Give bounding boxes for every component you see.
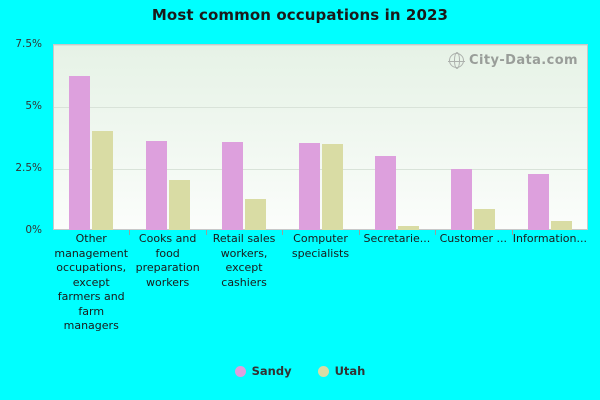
legend-swatch-sandy xyxy=(235,366,246,377)
bar-group xyxy=(451,44,495,230)
bar-group xyxy=(69,44,113,230)
bar-sandy[interactable] xyxy=(375,156,396,230)
x-axis-tick xyxy=(512,230,513,235)
y-axis-tick-label: 2.5% xyxy=(15,162,42,174)
bar-sandy[interactable] xyxy=(528,174,549,230)
bar-utah[interactable] xyxy=(92,131,113,230)
chart-container: Most common occupations in 2023 0%2.5%5%… xyxy=(0,0,600,400)
x-axis-category-label: Retail sales workers, except cashiers xyxy=(208,232,280,290)
x-axis-tick xyxy=(359,230,360,235)
bar-sandy[interactable] xyxy=(299,143,320,230)
x-axis-category-label: Customer ... xyxy=(436,232,510,247)
bar-utah[interactable] xyxy=(398,226,419,230)
bar-group xyxy=(146,44,190,230)
x-axis-tick xyxy=(282,230,283,235)
bar-group xyxy=(299,44,343,230)
legend-label-sandy: Sandy xyxy=(252,364,292,378)
y-axis-tick-label: 5% xyxy=(25,100,42,112)
bar-sandy[interactable] xyxy=(222,142,243,230)
x-axis-category-label: Computer specialists xyxy=(285,232,357,261)
bar-utah[interactable] xyxy=(245,199,266,230)
x-axis-category-label: Secretarie... xyxy=(360,232,434,247)
x-axis-tick xyxy=(435,230,436,235)
x-axis-category-label: Cooks and food preparation workers xyxy=(132,232,204,290)
x-axis-tick xyxy=(206,230,207,235)
legend-item-sandy[interactable]: Sandy xyxy=(235,364,292,378)
bar-sandy[interactable] xyxy=(146,141,167,230)
x-axis-labels: Other management occupations, except far… xyxy=(53,232,588,362)
legend-item-utah[interactable]: Utah xyxy=(318,364,366,378)
x-axis-tick xyxy=(129,230,130,235)
bar-group xyxy=(375,44,419,230)
chart-title: Most common occupations in 2023 xyxy=(0,6,600,24)
legend-label-utah: Utah xyxy=(335,364,366,378)
bars-layer xyxy=(53,44,588,230)
bar-utah[interactable] xyxy=(474,209,495,230)
bar-group xyxy=(222,44,266,230)
x-axis-category-label: Information... xyxy=(513,232,587,247)
y-axis-tick-label: 0% xyxy=(25,224,42,236)
bar-utah[interactable] xyxy=(169,180,190,230)
chart-legend: Sandy Utah xyxy=(0,364,600,378)
x-axis-category-label: Other management occupations, except far… xyxy=(52,232,130,334)
y-axis-tick-label: 7.5% xyxy=(15,38,42,50)
bar-group xyxy=(528,44,572,230)
y-axis: 0%2.5%5%7.5% xyxy=(0,44,48,230)
bar-sandy[interactable] xyxy=(69,76,90,230)
bar-utah[interactable] xyxy=(551,221,572,230)
legend-swatch-utah xyxy=(318,366,329,377)
bar-sandy[interactable] xyxy=(451,169,472,230)
bar-utah[interactable] xyxy=(322,144,343,230)
